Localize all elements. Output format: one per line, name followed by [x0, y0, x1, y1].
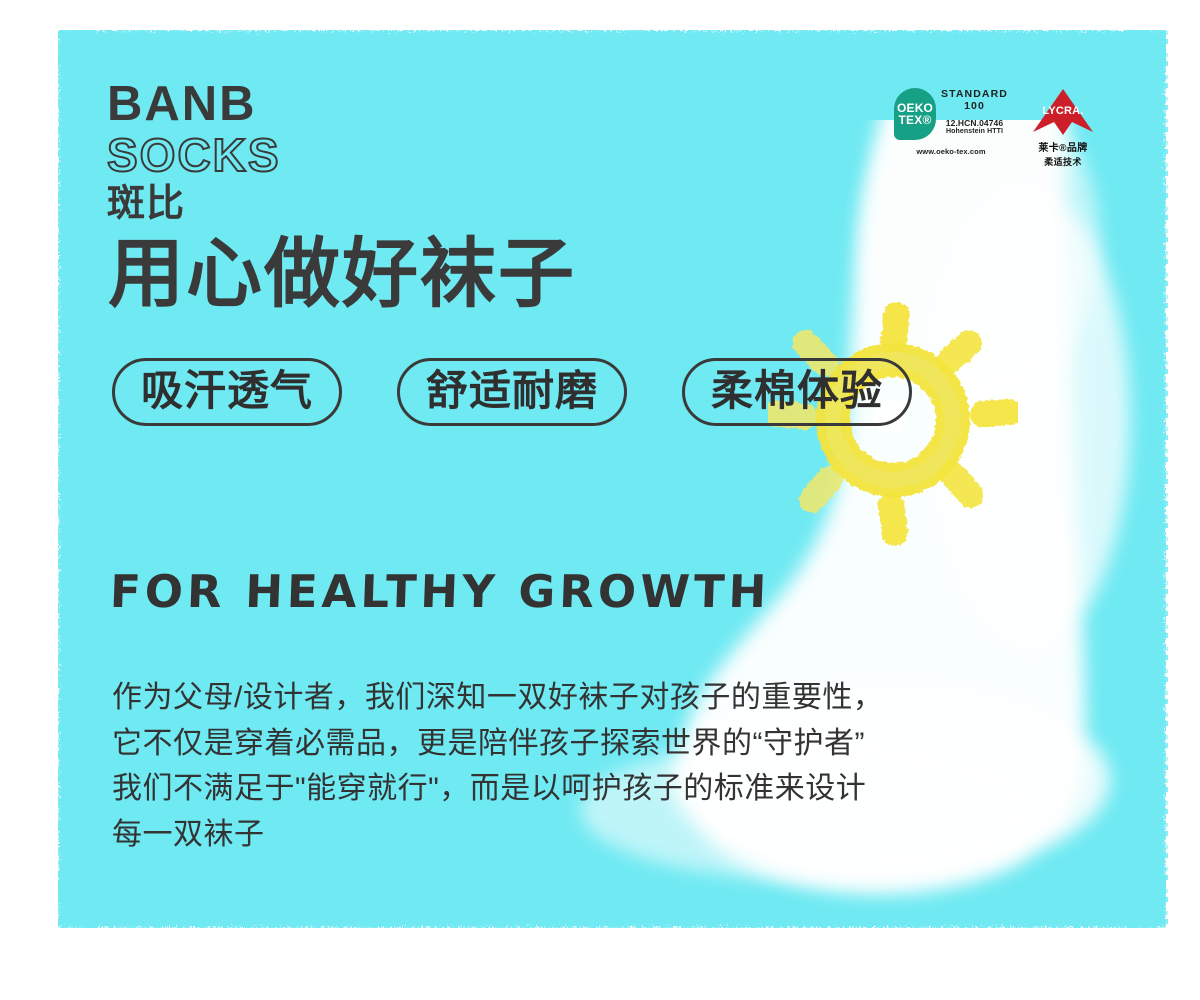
lycra-mark-icon: LYCRA.: [1032, 88, 1094, 136]
feature-pill-breathable: 吸汗透气: [112, 358, 342, 426]
feature-pill-group: 吸汗透气 舒适耐磨 柔棉体验: [112, 358, 912, 426]
lycra-chinese-line2: 柔适技术: [1044, 155, 1082, 168]
logo-brand-banb: BANB: [107, 80, 281, 129]
lycra-chinese-line1: 莱卡®品牌: [1038, 139, 1087, 154]
oeko-cert-number: 12.HCN.04746: [941, 118, 1008, 128]
product-banner: BANB SOCKS 斑比 OEKO TEX® STANDARD 100 12.…: [0, 0, 1200, 1000]
oeko-institute: Hohenstein HTTI: [941, 128, 1008, 135]
body-copy-line-4: 每一双袜子: [112, 812, 1072, 858]
oeko-tex-badge: OEKO TEX® STANDARD 100 12.HCN.04746 Hohe…: [886, 88, 1016, 156]
lycra-badge: LYCRA. 莱卡®品牌 柔适技术: [1026, 88, 1100, 168]
oeko-website-url: www.oeko-tex.com: [916, 147, 985, 156]
brand-logo: BANB SOCKS 斑比: [107, 80, 281, 227]
oeko-mark-line2: TEX®: [899, 114, 932, 126]
body-copy-line-1: 作为父母/设计者，我们深知一双好袜子对孩子的重要性，: [112, 675, 1072, 721]
english-slogan: FOR HEALTHY GROWTH: [109, 565, 771, 618]
body-copy-line-3: 我们不满足于"能穿就行"，而是以呵护孩子的标准来设计: [112, 766, 1072, 812]
feature-pill-durable: 舒适耐磨: [397, 358, 627, 426]
feature-pill-soft-cotton: 柔棉体验: [682, 358, 912, 426]
page-headline: 用心做好袜子: [108, 237, 576, 313]
oeko-standard-line2: 100: [941, 101, 1008, 113]
body-copy-line-2: 它不仅是穿着必需品，更是陪伴孩子探索世界的“守护者”: [112, 721, 1072, 767]
body-copy-block: 作为父母/设计者，我们深知一双好袜子对孩子的重要性， 它不仅是穿着必需品，更是陪…: [112, 675, 1072, 857]
logo-brand-chinese: 斑比: [107, 183, 281, 227]
oeko-standard-line1: STANDARD: [941, 89, 1008, 101]
certification-badges: OEKO TEX® STANDARD 100 12.HCN.04746 Hohe…: [886, 88, 1100, 168]
lycra-wordmark: LYCRA.: [1032, 105, 1094, 117]
oeko-tex-mark-icon: OEKO TEX®: [894, 88, 936, 140]
logo-brand-socks: SOCKS: [107, 131, 281, 179]
